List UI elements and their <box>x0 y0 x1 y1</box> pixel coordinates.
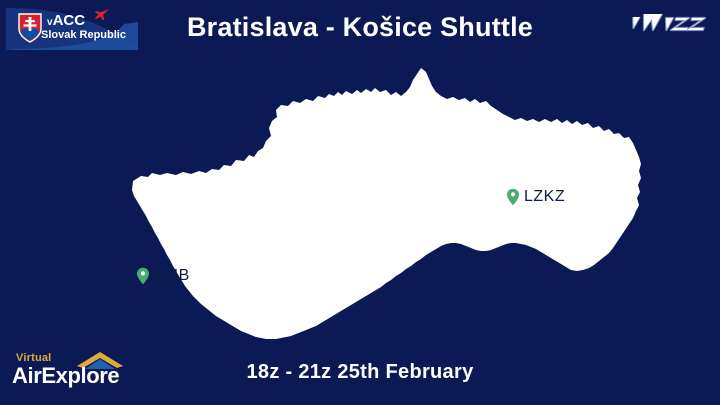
airplane-icon <box>94 8 110 21</box>
slovak-double-cross-shield-icon <box>18 13 42 43</box>
slovakia-map <box>0 0 720 405</box>
vacc-acc: ACC <box>53 12 86 29</box>
vacc-slovak-republic-logo: vACC Slovak Republic <box>6 6 138 50</box>
vacc-wordmark: vACC <box>47 13 85 30</box>
vacc-subtitle: Slovak Republic <box>41 29 126 41</box>
wizz-air-logo <box>622 6 708 42</box>
map-marker-lzib-label: LZIB <box>154 267 190 285</box>
map-pin-icon <box>136 267 150 285</box>
wizz-wordmark-icon <box>622 6 708 42</box>
map-pin-icon <box>506 188 520 206</box>
map-marker-lzkz-label: LZKZ <box>524 188 565 206</box>
airexplore-wordmark: AirExplore <box>12 364 119 388</box>
poster: LZIB LZKZ Bratislava - Košice Shuttle 18… <box>0 0 720 405</box>
map-marker-lzkz[interactable]: LZKZ <box>506 188 565 206</box>
map-marker-lzib[interactable]: LZIB <box>136 267 190 285</box>
virtual-airexplore-logo: Virtual AirExplore <box>10 352 128 396</box>
